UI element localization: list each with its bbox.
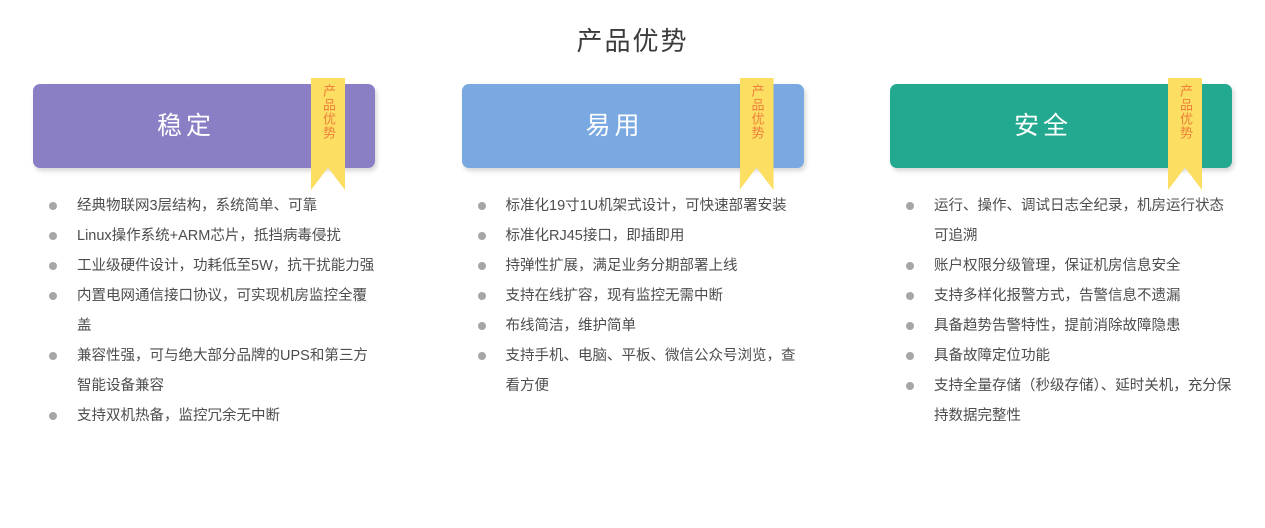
list-item-text: 支持全量存储（秒级存储）、延时关机，充分保持数据完整性 — [934, 378, 1231, 424]
product-advantage-ribbon: 产品优势 — [1168, 78, 1202, 190]
list-item-text: 具备趋势告警特性，提前消除故障隐患 — [934, 318, 1181, 334]
product-advantage-ribbon: 产品优势 — [740, 78, 774, 190]
list-item-text: 具备故障定位功能 — [934, 348, 1050, 364]
advantage-card-grid: 稳定 产品优势 经典物联网3层结构，系统简单、可靠 Linux操作系统+ARM芯… — [33, 84, 1232, 431]
product-advantages-page: 产品优势 稳定 产品优势 经典物联网3层结构，系统简单、可靠 Linux操作系统… — [0, 0, 1265, 528]
bullet-icon — [906, 202, 914, 210]
bullet-icon — [906, 352, 914, 360]
list-item: 内置电网通信接口协议，可实现机房监控全覆盖 — [49, 281, 375, 341]
list-item-text: 布线简洁，维护简单 — [506, 318, 637, 334]
card-header: 易用 产品优势 — [462, 84, 804, 168]
list-item: 布线简洁，维护简单 — [478, 311, 804, 341]
ribbon-label: 产品优势 — [1177, 84, 1193, 140]
list-item: 经典物联网3层结构，系统简单、可靠 — [49, 191, 375, 221]
bullet-icon — [478, 202, 486, 210]
bullet-icon — [478, 322, 486, 330]
list-item: 运行、操作、调试日志全纪录，机房运行状态可追溯 — [906, 191, 1232, 251]
bullet-icon — [906, 262, 914, 270]
card-feature-list: 标准化19寸1U机架式设计，可快速部署安装 标准化RJ45接口，即插即用 持弹性… — [462, 191, 804, 401]
list-item: 具备趋势告警特性，提前消除故障隐患 — [906, 311, 1232, 341]
list-item: 支持双机热备，监控冗余无中断 — [49, 401, 375, 431]
list-item-text: 支持双机热备，监控冗余无中断 — [77, 408, 280, 424]
card-header-title: 易用 — [585, 111, 643, 141]
list-item: 持弹性扩展，满足业务分期部署上线 — [478, 251, 804, 281]
card-feature-list: 经典物联网3层结构，系统简单、可靠 Linux操作系统+ARM芯片，抵挡病毒侵扰… — [33, 191, 375, 431]
bullet-icon — [49, 262, 57, 270]
bullet-icon — [49, 352, 57, 360]
bullet-icon — [478, 352, 486, 360]
card-header: 安全 产品优势 — [890, 84, 1232, 168]
list-item-text: Linux操作系统+ARM芯片，抵挡病毒侵扰 — [77, 228, 341, 244]
list-item-text: 标准化19寸1U机架式设计，可快速部署安装 — [506, 198, 787, 214]
list-item: 支持多样化报警方式，告警信息不遗漏 — [906, 281, 1232, 311]
bullet-icon — [906, 322, 914, 330]
ribbon-label: 产品优势 — [320, 84, 336, 140]
list-item: 标准化19寸1U机架式设计，可快速部署安装 — [478, 191, 804, 221]
advantage-card: 易用 产品优势 标准化19寸1U机架式设计，可快速部署安装 标准化RJ45接口，… — [462, 84, 804, 401]
list-item-text: 账户权限分级管理，保证机房信息安全 — [934, 258, 1181, 274]
list-item-text: 支持多样化报警方式，告警信息不遗漏 — [934, 288, 1181, 304]
list-item-text: 运行、操作、调试日志全纪录，机房运行状态可追溯 — [934, 198, 1224, 244]
bullet-icon — [478, 262, 486, 270]
bullet-icon — [49, 232, 57, 240]
list-item-text: 工业级硬件设计，功耗低至5W，抗干扰能力强 — [77, 258, 374, 274]
card-feature-list: 运行、操作、调试日志全纪录，机房运行状态可追溯 账户权限分级管理，保证机房信息安… — [890, 191, 1232, 431]
advantage-card: 稳定 产品优势 经典物联网3层结构，系统简单、可靠 Linux操作系统+ARM芯… — [33, 84, 375, 431]
list-item: 标准化RJ45接口，即插即用 — [478, 221, 804, 251]
list-item-text: 标准化RJ45接口，即插即用 — [506, 228, 685, 244]
list-item-text: 内置电网通信接口协议，可实现机房监控全覆盖 — [77, 288, 367, 334]
advantage-card: 安全 产品优势 运行、操作、调试日志全纪录，机房运行状态可追溯 账户权限分级管理… — [890, 84, 1232, 431]
bullet-icon — [49, 412, 57, 420]
bullet-icon — [49, 292, 57, 300]
list-item: 账户权限分级管理，保证机房信息安全 — [906, 251, 1232, 281]
list-item: Linux操作系统+ARM芯片，抵挡病毒侵扰 — [49, 221, 375, 251]
page-title: 产品优势 — [0, 24, 1265, 58]
list-item: 支持全量存储（秒级存储）、延时关机，充分保持数据完整性 — [906, 371, 1232, 431]
list-item-text: 持弹性扩展，满足业务分期部署上线 — [506, 258, 738, 274]
bullet-icon — [906, 292, 914, 300]
list-item: 支持手机、电脑、平板、微信公众号浏览，查看方便 — [478, 341, 804, 401]
list-item-text: 兼容性强，可与绝大部分品牌的UPS和第三方智能设备兼容 — [77, 348, 368, 394]
list-item: 兼容性强，可与绝大部分品牌的UPS和第三方智能设备兼容 — [49, 341, 375, 401]
ribbon-label: 产品优势 — [749, 84, 765, 140]
list-item: 支持在线扩容，现有监控无需中断 — [478, 281, 804, 311]
list-item-text: 支持在线扩容，现有监控无需中断 — [506, 288, 724, 304]
list-item: 具备故障定位功能 — [906, 341, 1232, 371]
bullet-icon — [906, 382, 914, 390]
card-header-title: 稳定 — [157, 111, 215, 141]
bullet-icon — [478, 292, 486, 300]
card-header: 稳定 产品优势 — [33, 84, 375, 168]
bullet-icon — [478, 232, 486, 240]
list-item: 工业级硬件设计，功耗低至5W，抗干扰能力强 — [49, 251, 375, 281]
list-item-text: 经典物联网3层结构，系统简单、可靠 — [77, 198, 317, 214]
product-advantage-ribbon: 产品优势 — [311, 78, 345, 190]
card-header-title: 安全 — [1014, 111, 1072, 141]
list-item-text: 支持手机、电脑、平板、微信公众号浏览，查看方便 — [506, 348, 796, 394]
bullet-icon — [49, 202, 57, 210]
